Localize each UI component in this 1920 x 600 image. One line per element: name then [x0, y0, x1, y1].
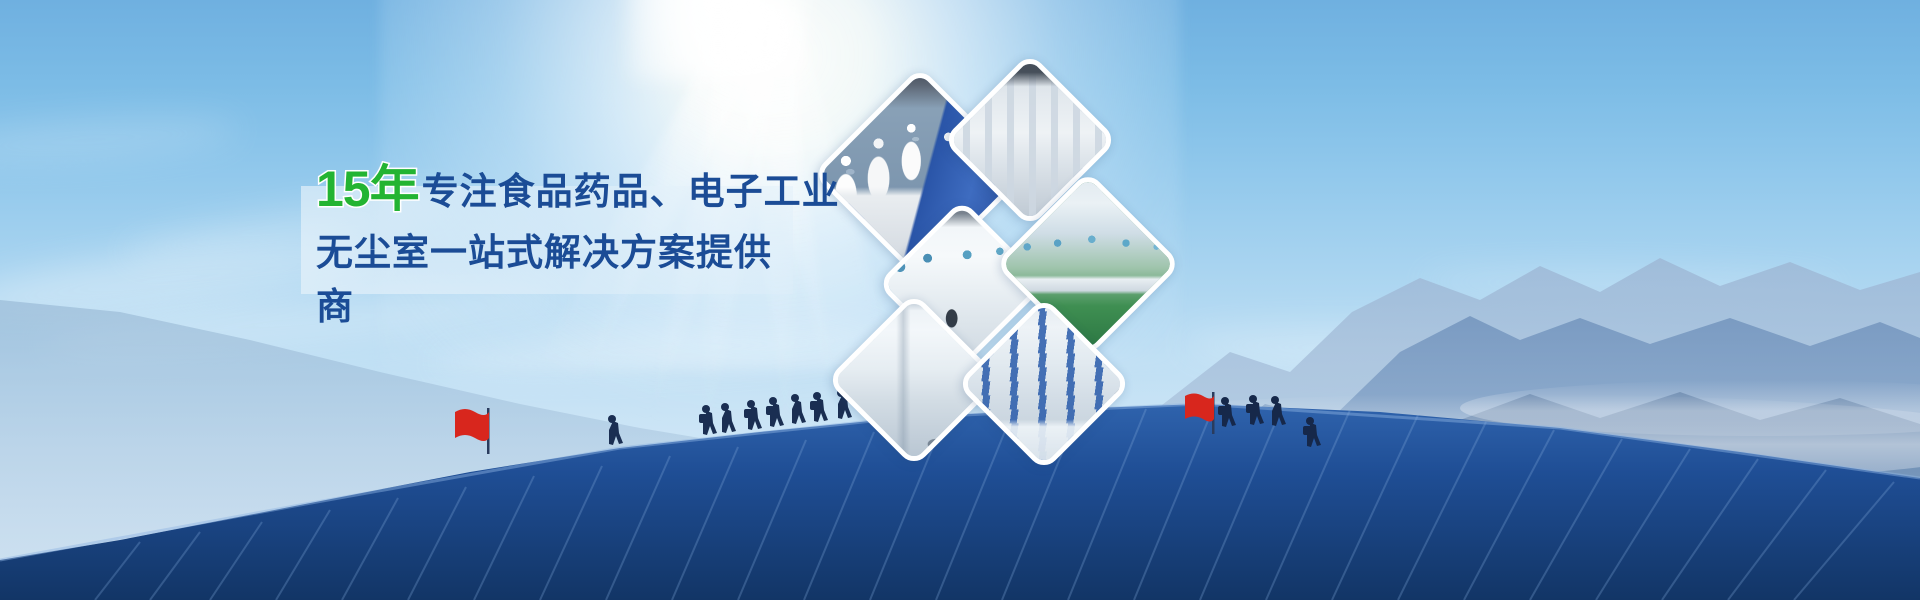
- headline-line-1-rest: 专注食品药品、电子工业: [422, 173, 840, 210]
- hero-banner: 15年 专注食品药品、电子工业 无尘室一站式解决方案提供商: [0, 0, 1920, 600]
- climber: [810, 392, 828, 422]
- headline-line-1: 15年 专注食品药品、电子工业: [316, 162, 796, 212]
- cleanroom-photo-diamonds: [836, 86, 1286, 476]
- headline-text-block: 15年 专注食品药品、电子工业 无尘室一站式解决方案提供商: [316, 196, 796, 296]
- years-badge: 15年: [316, 164, 419, 214]
- climber: [791, 394, 806, 424]
- climber: [721, 403, 736, 433]
- climber: [699, 405, 717, 435]
- climber: [744, 400, 762, 430]
- headline-line-2: 无尘室一站式解决方案提供商: [316, 222, 796, 330]
- climber: [766, 397, 784, 427]
